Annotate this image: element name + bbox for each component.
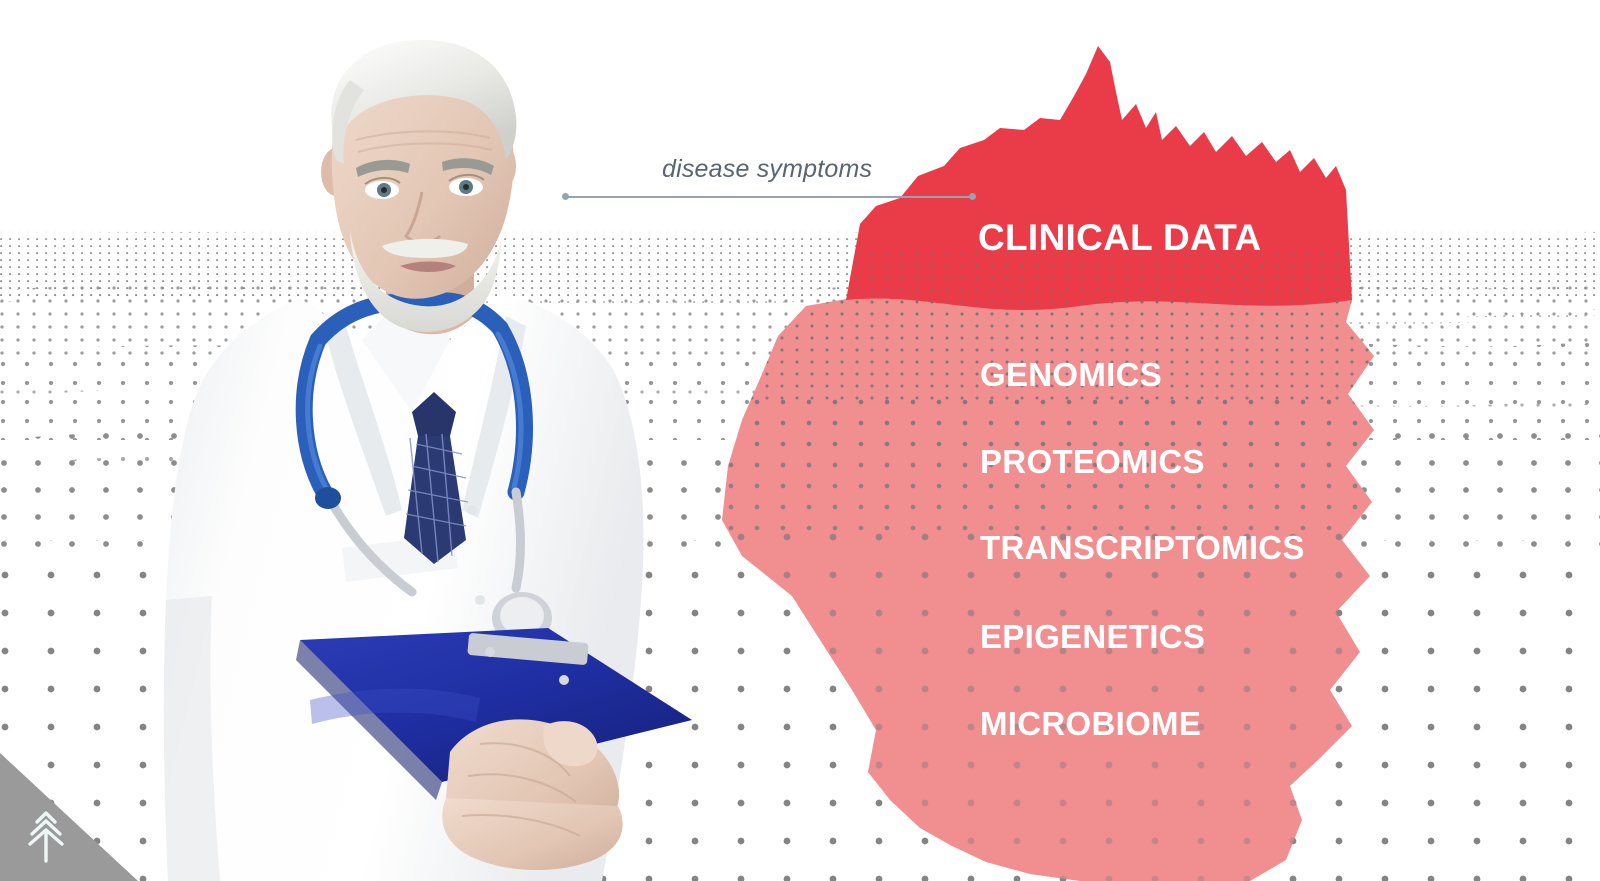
pine-tree-logo-icon[interactable] [24,807,68,863]
iceberg-label-microbiome: MICROBIOME [980,707,1201,740]
corner-logo-block[interactable] [0,753,138,881]
infographic-canvas: CLINICAL DATA GENOMICS PROTEOMICS TRANSC… [0,0,1600,881]
doctor-head [321,40,516,332]
iceberg-label-epigenetics: EPIGENETICS [980,620,1205,653]
callout-dot-right [969,193,976,200]
corner-triangle [0,753,138,881]
iceberg-label-clinical-data: CLINICAL DATA [978,219,1261,256]
iceberg-label-transcriptomics: TRANSCRIPTOMICS [980,531,1305,564]
iceberg-label-proteomics: PROTEOMICS [980,445,1205,478]
doctor-photo [150,40,720,881]
iceberg-tip-body [800,46,1400,320]
doctor-hands [442,719,622,870]
iceberg-label-genomics: GENOMICS [980,358,1162,391]
